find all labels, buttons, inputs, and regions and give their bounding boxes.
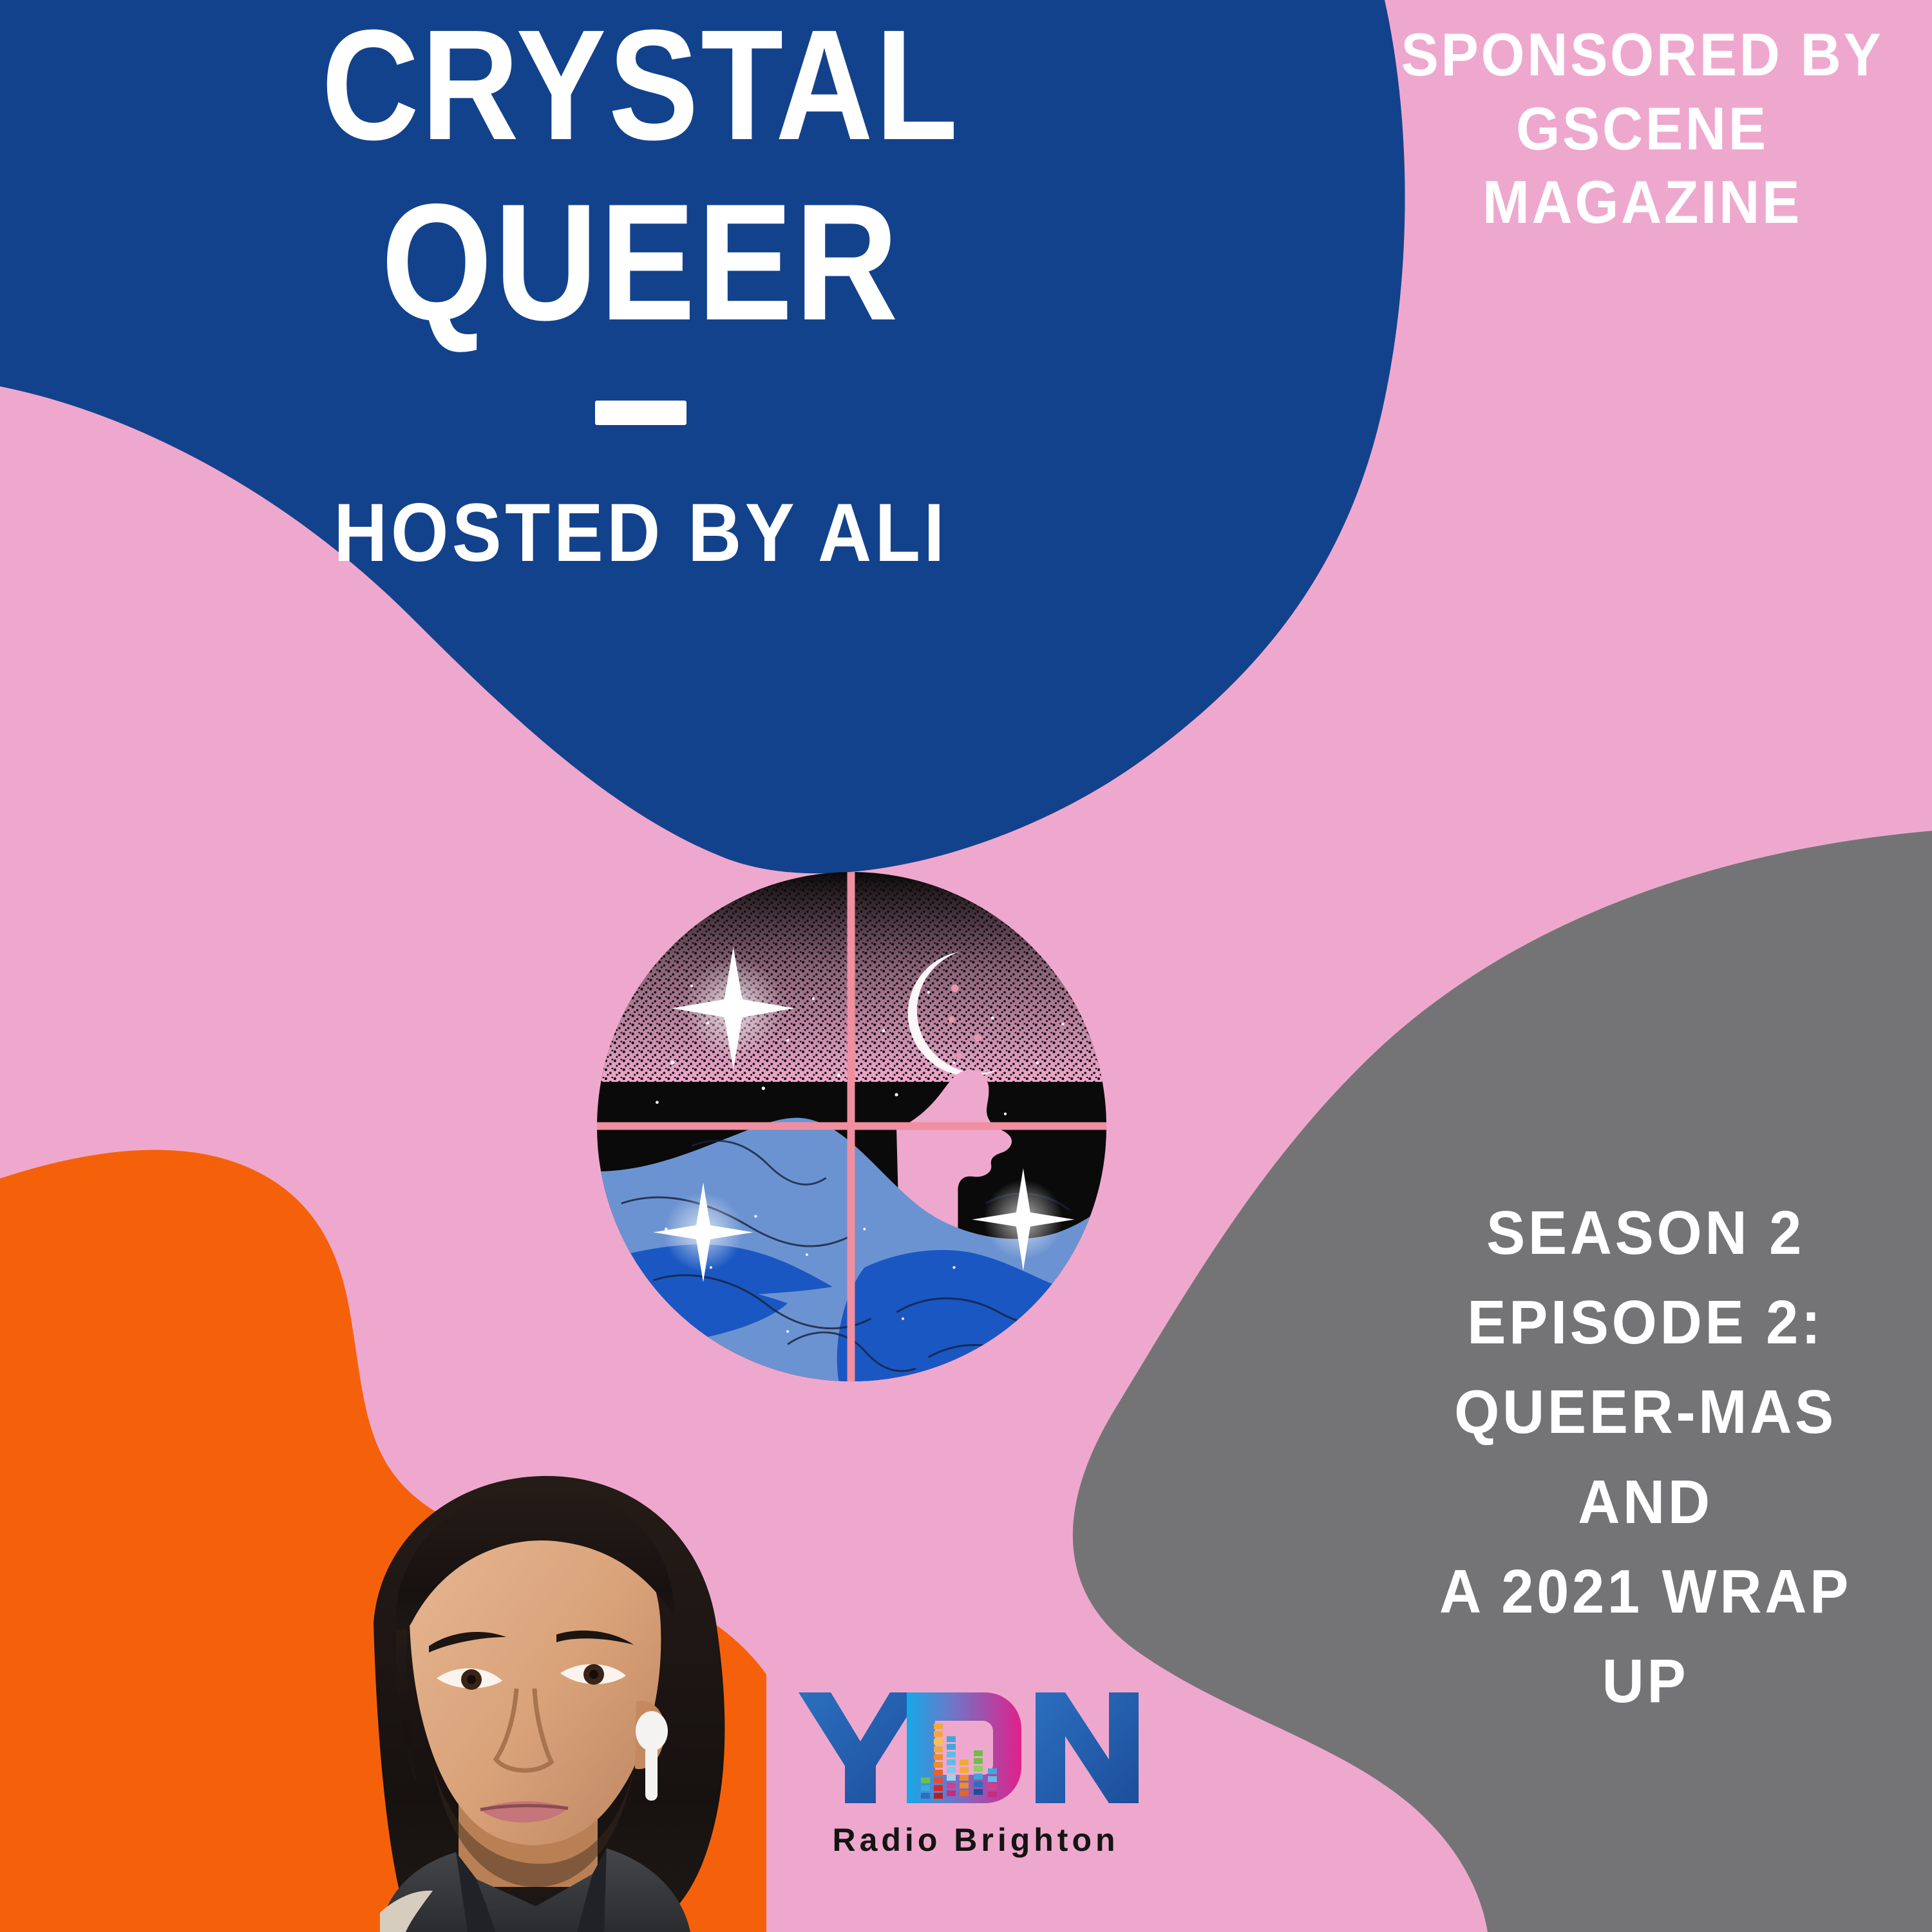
title-block: Crystal Queer Hosted by Ali [238, 6, 1043, 574]
page-title-line-2: Queer [295, 179, 987, 345]
episode-season: Season 2 [1382, 1188, 1909, 1278]
podcast-cover-art: Crystal Queer Hosted by Ali Sponsored by… [0, 0, 1932, 1932]
logo-letter-y [799, 1692, 922, 1803]
celestial-circle-artwork [596, 871, 1108, 1383]
episode-number: Episode 2: [1382, 1278, 1909, 1367]
episode-title-line-3: Up [1382, 1636, 1909, 1726]
episode-title-line-2: A 2021 Wrap [1382, 1547, 1909, 1636]
logo-tagline: Radio Brighton [832, 1822, 1119, 1858]
sponsor-line-2: Gscene [1394, 92, 1891, 166]
sponsor-line-1: Sponsored by [1394, 18, 1891, 92]
celestial-circle-inner [596, 871, 1108, 1383]
logo-letter-n [1036, 1692, 1139, 1803]
dash-divider-icon [595, 401, 687, 425]
sponsor-block: Sponsored by Gscene Magazine [1394, 18, 1891, 240]
episode-block: Season 2 Episode 2: Queer-mas and A 2021… [1382, 1188, 1909, 1726]
sponsor-line-3: Magazine [1394, 166, 1891, 240]
station-logo: Radio Brighton [792, 1674, 1159, 1868]
page-title-line-1: Crystal [295, 6, 987, 164]
host-portrait [283, 1462, 805, 1932]
host-credit: Hosted by Ali [279, 492, 1003, 574]
episode-title-line-1: Queer-mas and [1382, 1367, 1909, 1546]
